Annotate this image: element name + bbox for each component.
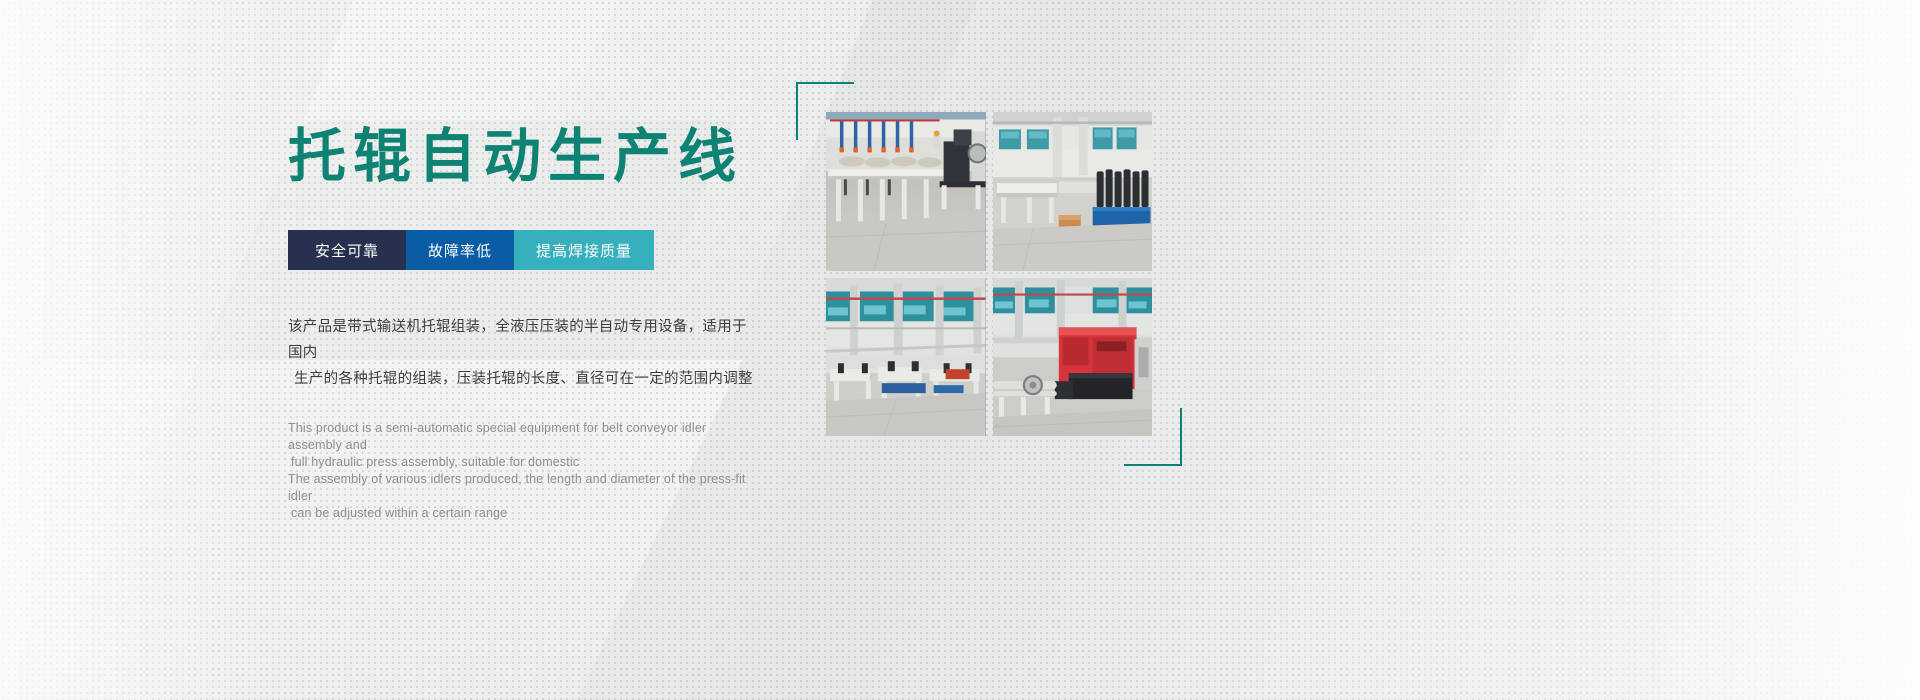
feature-badge-safe-reliable[interactable]: 安全可靠 xyxy=(288,230,406,270)
feature-badge-low-failure-rate[interactable]: 故障率低 xyxy=(406,230,514,270)
description-chinese: 该产品是带式输送机托辊组装，全液压压装的半自动专用设备，适用于国内 生产的各种托… xyxy=(288,314,758,392)
description-chinese-line-2: 生产的各种托辊的组装，压装托辊的长度、直径可在一定的范围内调整 xyxy=(288,366,758,392)
description-english: This product is a semi-automatic special… xyxy=(288,420,758,522)
gallery-photo-4[interactable] xyxy=(993,278,1153,437)
gallery-photo-1[interactable] xyxy=(826,112,986,271)
page-title: 托辊自动生产线 xyxy=(288,128,758,186)
gallery-photo-2-image xyxy=(993,112,1153,271)
description-english-line-4: can be adjusted within a certain range xyxy=(288,505,758,522)
gallery-photo-1-image xyxy=(826,112,986,271)
feature-badge-improved-weld-quality[interactable]: 提高焊接质量 xyxy=(514,230,654,270)
product-photo-gallery xyxy=(826,112,1152,436)
description-english-line-3: The assembly of various idlers produced,… xyxy=(288,471,758,505)
feature-badge-group: 安全可靠 故障率低 提高焊接质量 xyxy=(288,230,654,270)
description-english-line-2: full hydraulic press assembly, suitable … xyxy=(288,454,758,471)
banner-text-column: 托辊自动生产线 安全可靠 故障率低 提高焊接质量 该产品是带式输送机托辊组装，全… xyxy=(288,128,758,522)
gallery-photo-4-image xyxy=(993,278,1153,437)
photo-grid xyxy=(826,112,1152,436)
gallery-photo-2[interactable] xyxy=(993,112,1153,271)
description-english-line-1: This product is a semi-automatic special… xyxy=(288,420,758,454)
gallery-photo-3[interactable] xyxy=(826,278,986,437)
description-chinese-line-1: 该产品是带式输送机托辊组装，全液压压装的半自动专用设备，适用于国内 xyxy=(288,319,747,361)
product-banner: 托辊自动生产线 安全可靠 故障率低 提高焊接质量 该产品是带式输送机托辊组装，全… xyxy=(0,0,1920,700)
decorative-diagonal-shape xyxy=(1256,0,1920,700)
gallery-photo-3-image xyxy=(826,278,986,437)
